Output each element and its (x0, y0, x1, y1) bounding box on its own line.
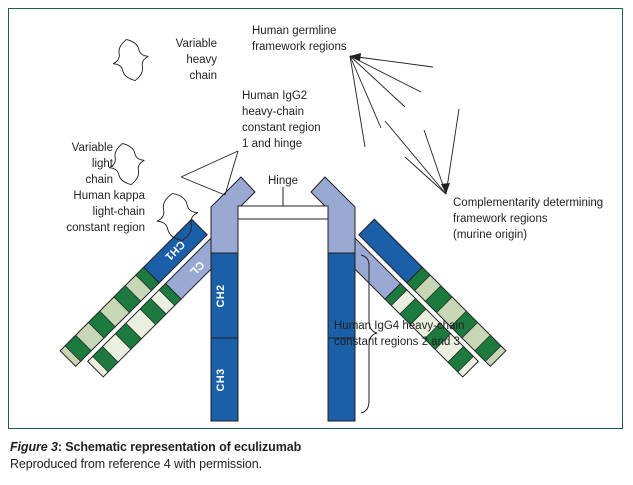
cdr-line3: (murine origin) (453, 229, 527, 241)
variable-heavy-line3: chain (190, 70, 218, 82)
right-arm (338, 218, 506, 386)
variable-light-line1: Variable (72, 142, 113, 154)
kappa-constant-line3: constant region (66, 222, 145, 234)
germline-line1: Human germline (252, 25, 336, 37)
igg2-line1: Human IgG2 (242, 90, 307, 102)
germline-line2: framework regions (252, 41, 347, 53)
right-ch3-block (328, 338, 355, 421)
antibody-schematic: CH1 CL (9, 9, 622, 428)
caption-credit: Reproduced from reference 4 with permiss… (10, 457, 610, 471)
variable-heavy-line1: Variable (176, 38, 217, 50)
left-arm: CH1 CL (60, 218, 228, 386)
hinge-label: Hinge (268, 175, 298, 187)
igg2-line4: 1 and hinge (242, 138, 302, 150)
kappa-constant-line1: Human kappa (73, 190, 145, 202)
kappa-constant-line2: light-chain (93, 206, 145, 218)
figure-page: CH1 CL (0, 0, 633, 485)
cdr-line2: framework regions (453, 213, 548, 225)
igg4-line1: Human IgG4 heavy-chain (334, 320, 464, 332)
figure-caption: Figure 3: Schematic representation of ec… (10, 440, 610, 471)
ch3-label: CH3 (215, 369, 227, 392)
figure-frame: CH1 CL (8, 8, 623, 429)
caption-title: Schematic representation of eculizumab (65, 440, 301, 454)
variable-light-line3: chain (86, 174, 114, 186)
cdr-leader-lines (385, 109, 459, 194)
caption-figure-label: Figure 3 (10, 440, 58, 454)
cdr-line1: Complementarity determining (453, 197, 603, 209)
ch2-label: CH2 (215, 285, 227, 308)
hinge-connector (238, 206, 328, 219)
igg4-line2: constant regions 2 and 3 (334, 336, 460, 348)
igg2-line2: heavy-chain (242, 106, 304, 118)
variable-heavy-line2: heavy (186, 54, 217, 66)
germline-leader-lines (350, 56, 433, 147)
caption-title-line: Figure 3: Schematic representation of ec… (10, 440, 610, 454)
igg2-line3: constant region (242, 122, 321, 134)
cdr-arrowhead (441, 183, 450, 194)
variable-heavy-brace (109, 36, 153, 85)
